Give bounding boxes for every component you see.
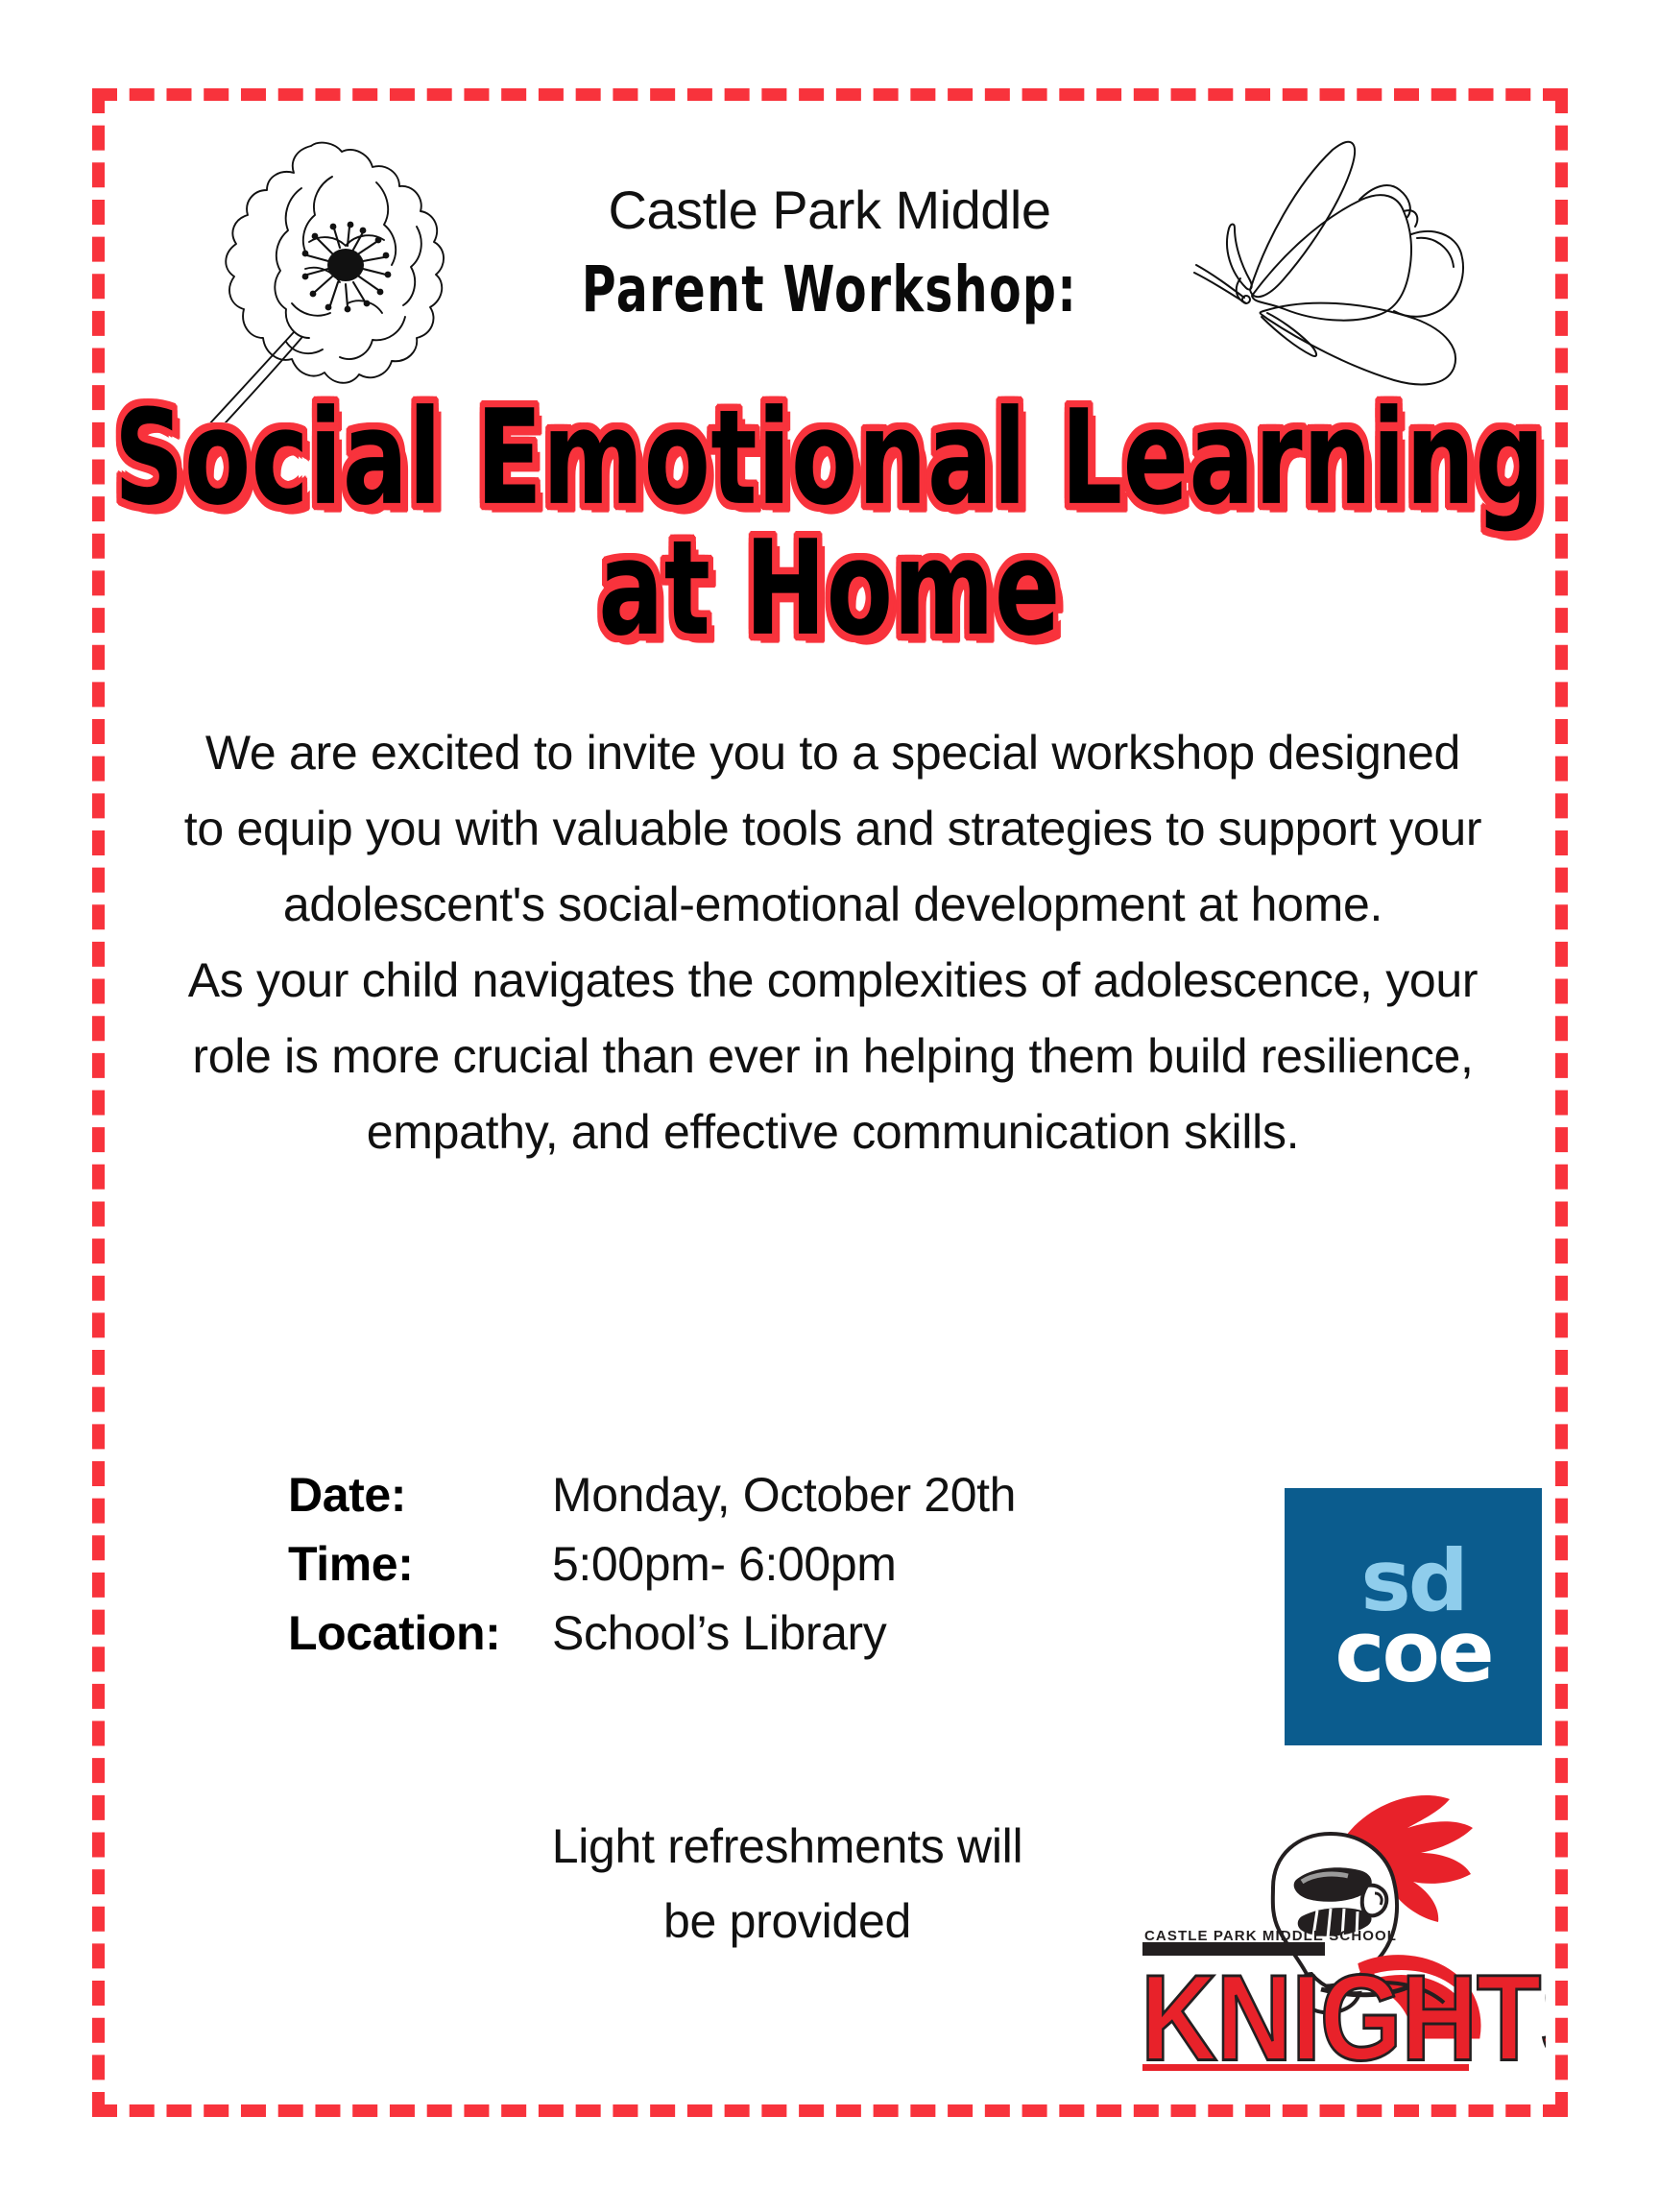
title-line-1: Social Emotional Learning bbox=[83, 392, 1575, 525]
detail-label-location: Location: bbox=[288, 1605, 552, 1661]
detail-row-location: Location: School’s Library bbox=[288, 1605, 1152, 1661]
body-paragraph-2: As your child navigates the complexities… bbox=[182, 943, 1483, 1170]
sdcoe-logo: sd coe bbox=[1285, 1488, 1542, 1745]
title-line-2: at Home bbox=[83, 522, 1575, 656]
detail-label-date: Date: bbox=[288, 1467, 552, 1523]
school-name: Castle Park Middle bbox=[0, 182, 1659, 239]
knights-wordmark: KNIGHTS bbox=[1141, 1950, 1546, 2086]
event-details: Date: Monday, October 20th Time: 5:00pm-… bbox=[288, 1467, 1152, 1674]
header: Castle Park Middle Parent Workshop: bbox=[0, 182, 1659, 322]
page-title: Social Emotional Learning at Home bbox=[0, 392, 1659, 632]
detail-value-date: Monday, October 20th bbox=[552, 1467, 1016, 1523]
body-copy: We are excited to invite you to a specia… bbox=[182, 715, 1483, 1170]
detail-value-location: School’s Library bbox=[552, 1605, 886, 1661]
sdcoe-logo-coe-text: coe bbox=[1334, 1617, 1491, 1688]
refreshments-note: Light refreshments will be provided bbox=[413, 1810, 1162, 1959]
knights-logo: CASTLE PARK MIDDLE SCHOOL KNIGHTS bbox=[1133, 1786, 1546, 2103]
refreshments-line-2: be provided bbox=[413, 1885, 1162, 1960]
detail-value-time: 5:00pm- 6:00pm bbox=[552, 1536, 897, 1592]
body-paragraph-1: We are excited to invite you to a specia… bbox=[182, 715, 1483, 943]
knights-banner-text: CASTLE PARK MIDDLE SCHOOL bbox=[1144, 1928, 1397, 1944]
detail-row-time: Time: 5:00pm- 6:00pm bbox=[288, 1536, 1152, 1592]
detail-row-date: Date: Monday, October 20th bbox=[288, 1467, 1152, 1523]
detail-label-time: Time: bbox=[288, 1536, 552, 1592]
refreshments-line-1: Light refreshments will bbox=[413, 1810, 1162, 1885]
workshop-kicker: Parent Workshop: bbox=[116, 253, 1543, 327]
